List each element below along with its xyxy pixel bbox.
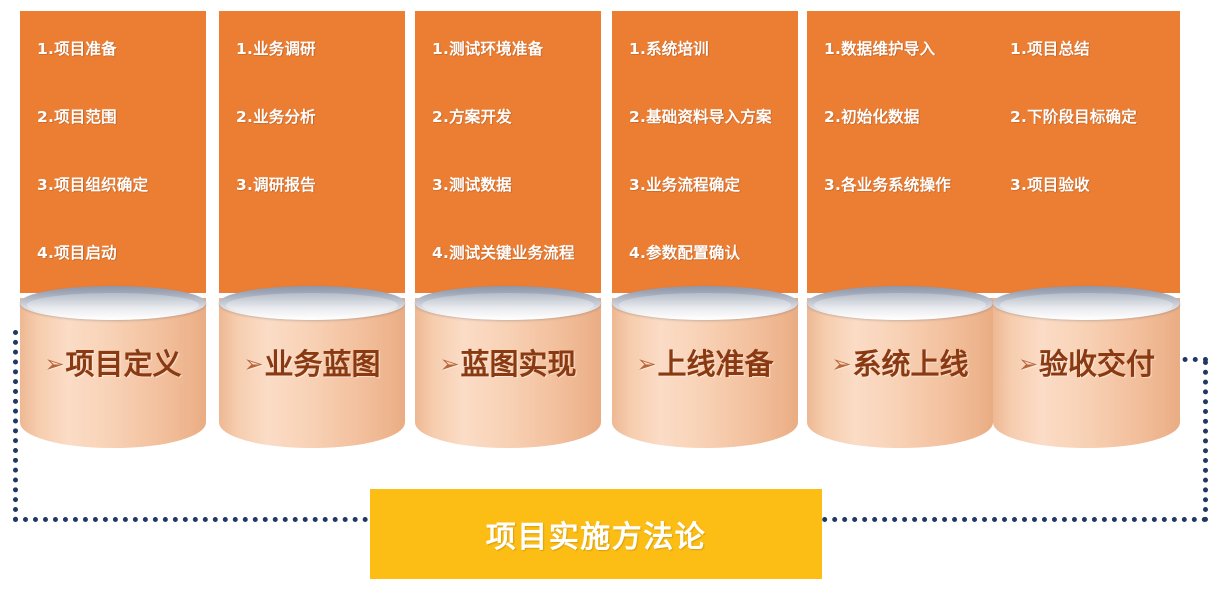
task-item: 1.测试环境准备 (432, 41, 601, 109)
task-card[interactable]: 1.项目总结2.下阶段目标确定3.项目验收 (993, 11, 1180, 293)
task-item: 3.业务流程确定 (629, 177, 798, 245)
task-item: 3.项目验收 (1010, 177, 1180, 245)
cylinder-top-ellipse (993, 286, 1180, 320)
phase-cylinder[interactable]: ➢系统上线 (807, 286, 993, 451)
task-card[interactable]: 1.项目准备2.项目范围3.项目组织确定4.项目启动 (20, 11, 206, 293)
task-item: 1.业务调研 (236, 41, 405, 109)
task-item: 1.项目准备 (37, 41, 206, 109)
phase-cylinder[interactable]: ➢验收交付 (993, 286, 1180, 451)
phase-cylinder[interactable]: ➢项目定义 (20, 286, 206, 451)
phase-label: ➢蓝图实现 (415, 348, 601, 382)
task-item: 2.方案开发 (432, 109, 601, 177)
task-item: 3.测试数据 (432, 177, 601, 245)
arrow-bullet-icon: ➢ (831, 350, 851, 378)
phase-label-text: 上线准备 (658, 347, 774, 381)
phase-cylinder[interactable]: ➢蓝图实现 (415, 286, 601, 451)
task-card[interactable]: 1.系统培训2.基础资料导入方案3.业务流程确定4.参数配置确认 (612, 11, 798, 293)
arrow-bullet-icon: ➢ (439, 350, 459, 378)
arrow-bullet-icon: ➢ (1018, 350, 1038, 378)
task-card[interactable]: 1.业务调研2.业务分析3.调研报告 (219, 11, 405, 293)
cylinder-top-ellipse (807, 286, 993, 320)
phase-label: ➢系统上线 (807, 348, 993, 382)
task-item: 2.项目范围 (37, 109, 206, 177)
task-item: 2.业务分析 (236, 109, 405, 177)
task-item: 1.项目总结 (1010, 41, 1180, 109)
phase-label: ➢上线准备 (612, 348, 798, 382)
cylinder-top-inner-ellipse (27, 293, 198, 317)
task-item: 1.系统培训 (629, 41, 798, 109)
cylinder-top-inner-ellipse (422, 293, 593, 317)
task-card[interactable]: 1.数据维护导入2.初始化数据3.各业务系统操作 (807, 11, 993, 293)
task-card[interactable]: 1.测试环境准备2.方案开发3.测试数据4.测试关键业务流程 (415, 11, 601, 293)
phase-label-text: 蓝图实现 (461, 347, 577, 381)
cylinder-top-ellipse (219, 286, 405, 320)
cylinder-top-inner-ellipse (1000, 293, 1172, 317)
phase-label: ➢项目定义 (20, 348, 206, 382)
task-item: 2.下阶段目标确定 (1010, 109, 1180, 177)
methodology-banner: 项目实施方法论 (370, 489, 822, 579)
arrow-bullet-icon: ➢ (636, 350, 656, 378)
methodology-banner-label: 项目实施方法论 (486, 512, 707, 556)
cylinder-top-inner-ellipse (619, 293, 790, 317)
task-item: 3.调研报告 (236, 177, 405, 245)
phase-label-text: 项目定义 (66, 347, 182, 381)
task-item: 3.项目组织确定 (37, 177, 206, 245)
phase-label-text: 业务蓝图 (265, 347, 381, 381)
phase-cylinder[interactable]: ➢业务蓝图 (219, 286, 405, 451)
phase-label-text: 系统上线 (853, 347, 969, 381)
arrow-bullet-icon: ➢ (44, 350, 64, 378)
phase-label: ➢验收交付 (993, 348, 1180, 382)
cylinder-top-inner-ellipse (814, 293, 985, 317)
task-item: 1.数据维护导入 (824, 41, 993, 109)
phase-label: ➢业务蓝图 (219, 348, 405, 382)
cylinder-top-ellipse (415, 286, 601, 320)
task-item: 2.基础资料导入方案 (629, 109, 798, 177)
diagram-canvas: 1.项目准备2.项目范围3.项目组织确定4.项目启动➢项目定义1.业务调研2.业… (0, 0, 1220, 591)
cylinder-top-ellipse (20, 286, 206, 320)
cylinder-top-ellipse (612, 286, 798, 320)
cylinder-top-inner-ellipse (226, 293, 397, 317)
arrow-bullet-icon: ➢ (243, 350, 263, 378)
task-item: 2.初始化数据 (824, 109, 993, 177)
phase-label-text: 验收交付 (1039, 347, 1155, 381)
task-item: 3.各业务系统操作 (824, 177, 993, 245)
phase-cylinder[interactable]: ➢上线准备 (612, 286, 798, 451)
